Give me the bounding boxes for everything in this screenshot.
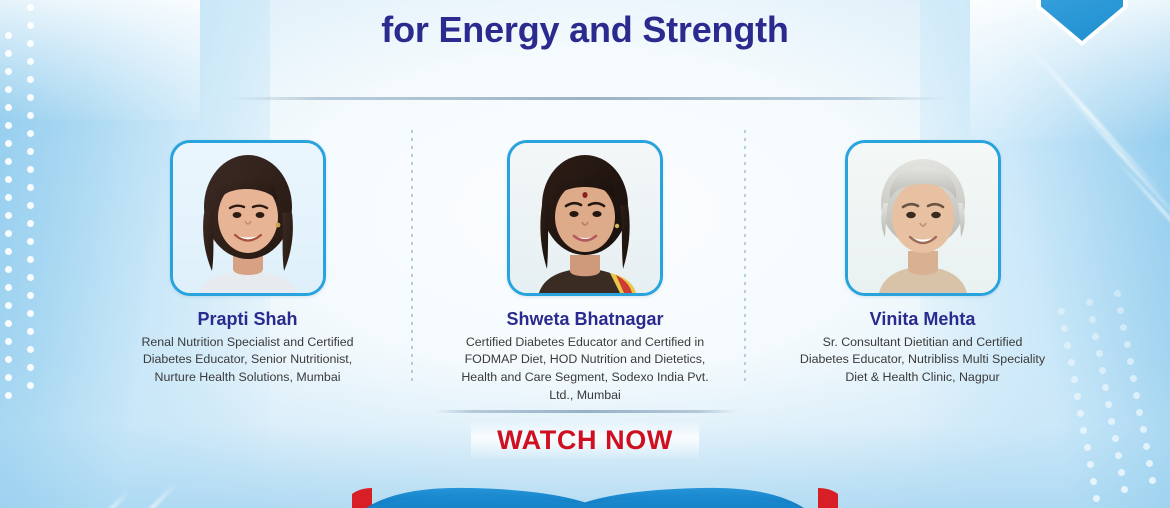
decorative-dot — [27, 112, 34, 119]
decorative-dot — [27, 256, 34, 263]
decorative-dot — [27, 184, 34, 191]
speaker-title: Renal Nutrition Specialist and Certified… — [136, 334, 360, 387]
decorative-dot — [5, 86, 12, 93]
decorative-dot — [5, 68, 12, 75]
decorative-dot — [5, 212, 12, 219]
divider-bottom — [436, 410, 736, 413]
decorative-dot — [5, 158, 12, 165]
page-title: Power of Essential Vitamins for Energy a… — [0, 0, 1170, 52]
decorative-dot — [27, 76, 34, 83]
decorative-dot — [5, 302, 12, 309]
speaker-name: Vinita Mehta — [870, 309, 976, 330]
decorative-dot — [5, 230, 12, 237]
decorative-dot — [27, 382, 34, 389]
speaker-title: Certified Diabetes Educator and Certifie… — [451, 334, 719, 404]
decorative-dot — [27, 238, 34, 245]
decorative-dot — [27, 202, 34, 209]
decorative-dot-column — [27, 4, 34, 389]
decorative-dot — [27, 148, 34, 155]
speaker-card: Vinita Mehta Sr. Consultant Dietitian an… — [770, 140, 1075, 387]
decorative-dot — [27, 220, 34, 227]
decorative-dot — [5, 266, 12, 273]
decorative-dot — [27, 346, 34, 353]
webinar-promo-banner: Power of Essential Vitamins for Energy a… — [0, 0, 1170, 508]
decorative-dot — [5, 194, 12, 201]
decorative-dot-column — [5, 32, 12, 399]
decorative-dot — [27, 364, 34, 371]
speaker-name: Prapti Shah — [197, 309, 297, 330]
decorative-dot — [27, 130, 34, 137]
speaker-portrait-shweta-bhatnagar — [510, 143, 660, 293]
speaker-card: Prapti Shah Renal Nutrition Specialist a… — [95, 140, 400, 387]
decorative-dot — [5, 122, 12, 129]
decorative-dot — [5, 338, 12, 345]
speaker-portrait-vinita-mehta — [848, 143, 998, 293]
decorative-dot — [5, 140, 12, 147]
decorative-dot — [5, 248, 12, 255]
decorative-dot — [27, 274, 34, 281]
speaker-name: Shweta Bhatnagar — [506, 309, 663, 330]
decorative-dot — [27, 292, 34, 299]
decorative-dot — [5, 104, 12, 111]
decorative-dot — [5, 284, 12, 291]
divider-top — [232, 97, 944, 100]
decorative-dot — [27, 94, 34, 101]
decorative-dot — [5, 176, 12, 183]
speaker-list: Prapti Shah Renal Nutrition Specialist a… — [95, 140, 1075, 404]
decorative-dot — [5, 320, 12, 327]
watch-now-button[interactable]: WATCH NOW — [471, 421, 699, 460]
decorative-dot — [5, 392, 12, 399]
speaker-title: Sr. Consultant Dietitian and Certified D… — [797, 334, 1049, 387]
decorative-dot — [5, 356, 12, 363]
decorative-dot — [27, 310, 34, 317]
decorative-dot — [27, 58, 34, 65]
decorative-dot — [5, 374, 12, 381]
avatar — [845, 140, 1001, 296]
speaker-card: Shweta Bhatnagar Certified Diabetes Educ… — [433, 140, 738, 404]
decorative-dot — [27, 166, 34, 173]
avatar — [170, 140, 326, 296]
cta-container: WATCH NOW — [0, 421, 1170, 460]
speaker-portrait-prapti-shah — [173, 143, 323, 293]
avatar — [507, 140, 663, 296]
decorative-dot — [27, 328, 34, 335]
